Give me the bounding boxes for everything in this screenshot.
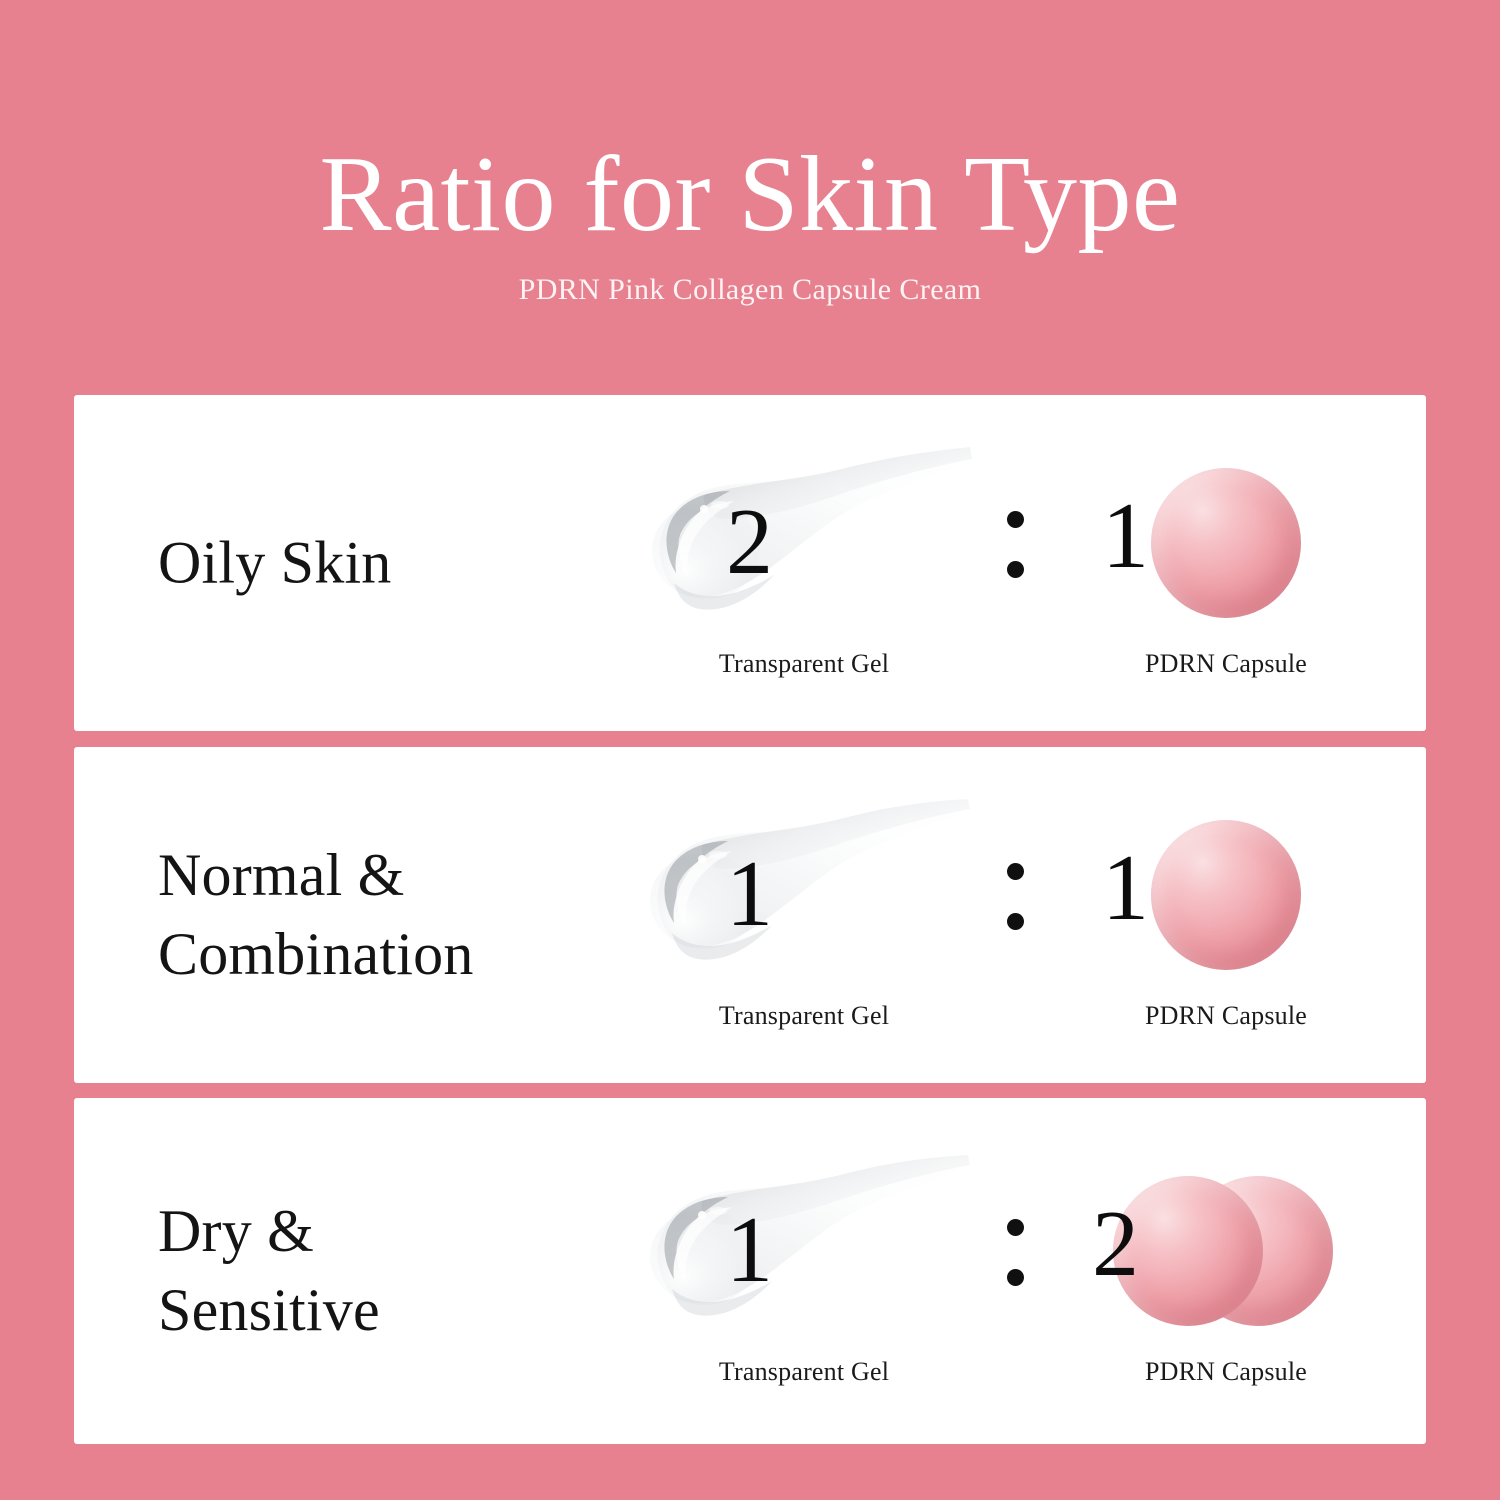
page-title: Ratio for Skin Type xyxy=(0,138,1500,251)
ratio-group: 1 Transparent Gel xyxy=(634,1098,1396,1444)
capsule-caption: PDRN Capsule xyxy=(1145,1357,1307,1387)
colon-dot-bottom xyxy=(1007,561,1024,578)
ratio-card-normal-combination: Normal & Combination xyxy=(74,747,1426,1083)
gel-caption: Transparent Gel xyxy=(719,649,889,679)
capsule-visual: 2 xyxy=(1056,1155,1396,1345)
ratio-card-oily-skin: Oily Skin xyxy=(74,395,1426,731)
gel-side: 1 Transparent Gel xyxy=(634,1155,974,1387)
colon-separator-icon xyxy=(974,449,1056,639)
capsule-visual: 1 xyxy=(1056,799,1396,989)
page-subtitle: PDRN Pink Collagen Capsule Cream xyxy=(0,273,1500,307)
transparent-gel-swatch-icon xyxy=(634,447,974,637)
gel-visual: 1 xyxy=(634,799,974,989)
gel-caption: Transparent Gel xyxy=(719,1001,889,1031)
header: Ratio for Skin Type PDRN Pink Collagen C… xyxy=(0,0,1500,307)
capsule-side: 2 PDRN Capsule xyxy=(1056,1155,1396,1387)
ratio-group: 2 Transparent Gel xyxy=(634,395,1396,731)
ratio-group: 1 Transparent Gel 1 xyxy=(634,747,1396,1083)
capsule-side: 1 PDRN Capsule xyxy=(1056,447,1396,679)
capsule-sphere xyxy=(1151,468,1301,618)
ratio-card-dry-sensitive: Dry & Sensitive xyxy=(74,1098,1426,1444)
colon-dot-bottom xyxy=(1007,1269,1024,1286)
colon-separator-icon xyxy=(974,1157,1056,1347)
capsule-caption: PDRN Capsule xyxy=(1145,649,1307,679)
product-infographic-page: Ratio for Skin Type PDRN Pink Collagen C… xyxy=(0,0,1500,1500)
transparent-gel-swatch-icon xyxy=(634,799,974,989)
gel-caption: Transparent Gel xyxy=(719,1357,889,1387)
transparent-gel-swatch-icon xyxy=(634,1155,974,1345)
capsule-visual: 1 xyxy=(1056,447,1396,637)
capsule-quantity: 1 xyxy=(1102,841,1149,935)
gel-quantity: 1 xyxy=(726,847,773,941)
gel-quantity: 2 xyxy=(726,495,773,589)
skin-type-label: Normal & Combination xyxy=(158,836,474,994)
capsule-side: 1 PDRN Capsule xyxy=(1056,799,1396,1031)
colon-dot-top xyxy=(1007,863,1024,880)
capsule-quantity: 1 xyxy=(1102,489,1149,583)
colon-dot-top xyxy=(1007,1219,1024,1236)
gel-quantity: 1 xyxy=(726,1203,773,1297)
colon-dot-top xyxy=(1007,511,1024,528)
skin-type-label: Dry & Sensitive xyxy=(158,1192,380,1350)
gel-side: 2 Transparent Gel xyxy=(634,447,974,679)
gel-side: 1 Transparent Gel xyxy=(634,799,974,1031)
gel-visual: 2 xyxy=(634,447,974,637)
colon-dot-bottom xyxy=(1007,913,1024,930)
capsule-caption: PDRN Capsule xyxy=(1145,1001,1307,1031)
skin-type-label: Oily Skin xyxy=(158,523,392,602)
colon-separator-icon xyxy=(974,801,1056,991)
capsule-sphere xyxy=(1151,820,1301,970)
capsule-quantity: 2 xyxy=(1092,1197,1139,1291)
gel-visual: 1 xyxy=(634,1155,974,1345)
